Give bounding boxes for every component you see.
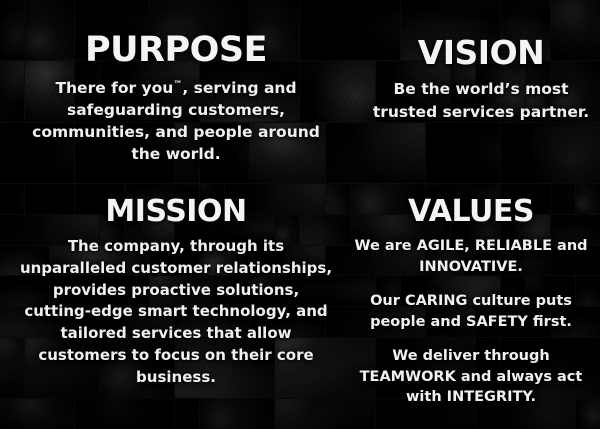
vision-heading: VISION — [370, 36, 592, 69]
values-heading: VALUES — [348, 197, 594, 227]
trademark-icon: ™ — [173, 80, 182, 90]
values-paragraph-caring: Our CARING culture puts people and SAFET… — [348, 291, 594, 332]
purpose-text-before-trademark: There for you — [55, 79, 173, 97]
section-vision: VISION Be the world’s most trusted servi… — [370, 36, 592, 123]
poster-canvas: PURPOSE There for you™, serving and safe… — [0, 0, 600, 429]
purpose-heading: PURPOSE — [18, 33, 334, 68]
mission-heading: MISSION — [18, 197, 334, 227]
values-paragraph-teamwork: We deliver through TEAMWORK and always a… — [348, 346, 594, 408]
mission-paragraph: The company, through its unparalleled cu… — [18, 236, 334, 388]
poster-content: PURPOSE There for you™, serving and safe… — [0, 0, 600, 429]
vision-paragraph: Be the world’s most trusted services par… — [370, 78, 592, 123]
values-paragraph-agile: We are AGILE, RELIABLE and INNOVATIVE. — [348, 236, 594, 277]
purpose-paragraph: There for you™, serving and safeguarding… — [18, 77, 334, 165]
section-purpose: PURPOSE There for you™, serving and safe… — [18, 33, 334, 165]
section-mission: MISSION The company, through its unparal… — [18, 197, 334, 388]
section-values: VALUES We are AGILE, RELIABLE and INNOVA… — [348, 197, 594, 408]
